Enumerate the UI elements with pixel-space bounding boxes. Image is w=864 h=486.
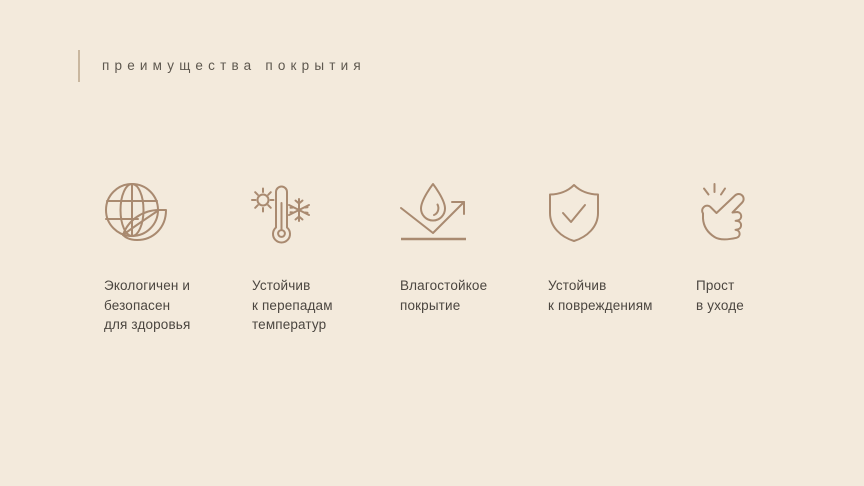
feature-label-line: для здоровья: [104, 315, 252, 335]
feature-label-line: Влагостойкое: [400, 276, 548, 296]
feature-label: Влагостойкое покрытие: [400, 276, 548, 315]
page-title: преимущества покрытия: [102, 59, 366, 73]
slide-root: преимущества покрытия Экологичен и безоп…: [0, 0, 864, 486]
features-row: Экологичен и безопасен для здоровья: [104, 178, 804, 335]
globe-leaf-icon: [104, 178, 252, 248]
feature-label-line: температур: [252, 315, 400, 335]
feature-label-line: Прост: [696, 276, 844, 296]
feature-label: Экологичен и безопасен для здоровья: [104, 276, 252, 335]
water-droplet-repellent-icon: [400, 178, 548, 248]
feature-label-line: в уходе: [696, 296, 844, 316]
feature-label-line: Устойчив: [252, 276, 400, 296]
heading-accent-rule: [78, 50, 80, 82]
feature-label-line: Экологичен и: [104, 276, 252, 296]
feature-label-line: покрытие: [400, 296, 548, 316]
thermometer-sun-snowflake-icon: [252, 178, 400, 248]
feature-label: Устойчив к повреждениям: [548, 276, 696, 315]
feature-item-durability: Устойчив к повреждениям: [548, 178, 696, 315]
feature-label-line: к перепадам: [252, 296, 400, 316]
feature-label-line: Устойчив: [548, 276, 696, 296]
snapping-hand-icon: [696, 178, 844, 248]
section-heading: преимущества покрытия: [78, 50, 366, 82]
feature-item-eco: Экологичен и безопасен для здоровья: [104, 178, 252, 335]
feature-item-temperature: Устойчив к перепадам температур: [252, 178, 400, 335]
feature-label: Устойчив к перепадам температур: [252, 276, 400, 335]
feature-label: Прост в уходе: [696, 276, 844, 315]
feature-item-easy-care: Прост в уходе: [696, 178, 844, 315]
feature-item-moisture: Влагостойкое покрытие: [400, 178, 548, 315]
feature-label-line: безопасен: [104, 296, 252, 316]
feature-label-line: к повреждениям: [548, 296, 696, 316]
shield-check-icon: [548, 178, 696, 248]
